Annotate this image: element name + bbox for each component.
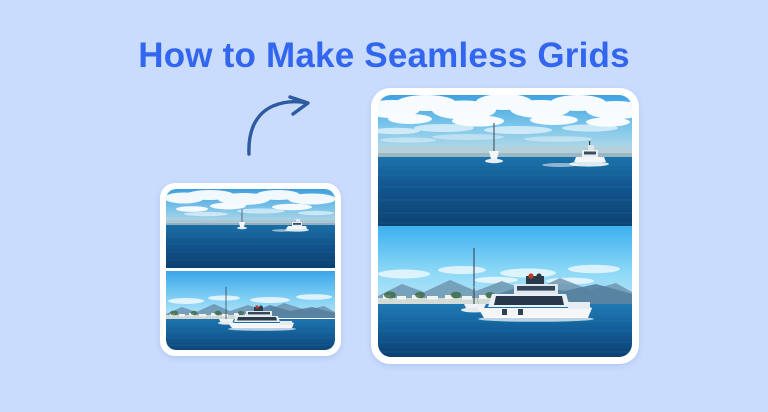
seamless-lower-region: [378, 226, 632, 357]
grid-cell-island-yacht[interactable]: [166, 271, 335, 350]
curved-arrow-up-right-icon: [243, 94, 317, 156]
photo-grid: [166, 189, 335, 350]
after-seamless-image-card[interactable]: [371, 88, 639, 364]
grid-cell-sea-sailboat[interactable]: [166, 189, 335, 268]
photo-island-yacht: [166, 271, 335, 350]
seamless-upper-region: [378, 95, 632, 226]
poster-canvas: How to Make Seamless Grids: [0, 0, 768, 412]
seamless-photo: [378, 95, 632, 357]
photo-sea-sailboat: [166, 189, 335, 268]
photo-sea-sailboat-large: [378, 95, 632, 226]
page-title: How to Make Seamless Grids: [0, 36, 768, 76]
photo-island-yacht-large: [378, 226, 632, 357]
before-grid-card[interactable]: [160, 183, 341, 356]
